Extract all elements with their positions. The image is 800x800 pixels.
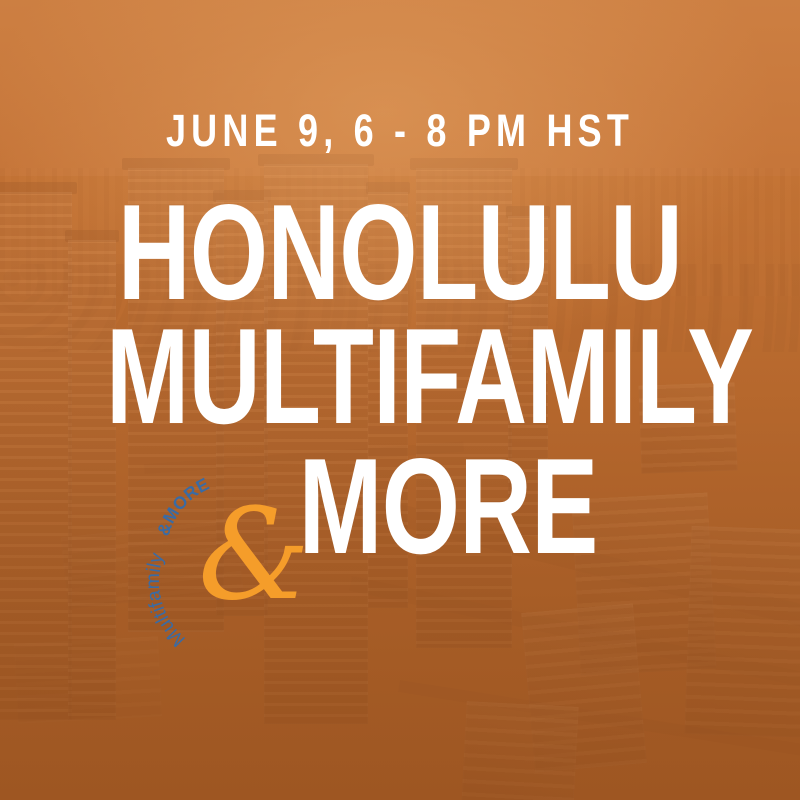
page-title-line-2: MULTIFAMILY [106,322,694,431]
multifamily-and-more-logo: Multifamily &MORE & [142,472,318,648]
logo-curved-lower-textpath: Multifamily [142,550,190,651]
logo-curved-lower-text: Multifamily [142,550,190,651]
logo-ampersand: & [198,492,310,618]
page-title-line-1: HONOLULU [104,198,696,307]
event-promo-poster: JUNE 9, 6 - 8 PM HST HONOLULU MULTIFAMIL… [0,0,800,800]
poster-content: JUNE 9, 6 - 8 PM HST HONOLULU MULTIFAMIL… [0,0,800,800]
event-datetime-kicker: JUNE 9, 6 - 8 PM HST [80,108,720,153]
